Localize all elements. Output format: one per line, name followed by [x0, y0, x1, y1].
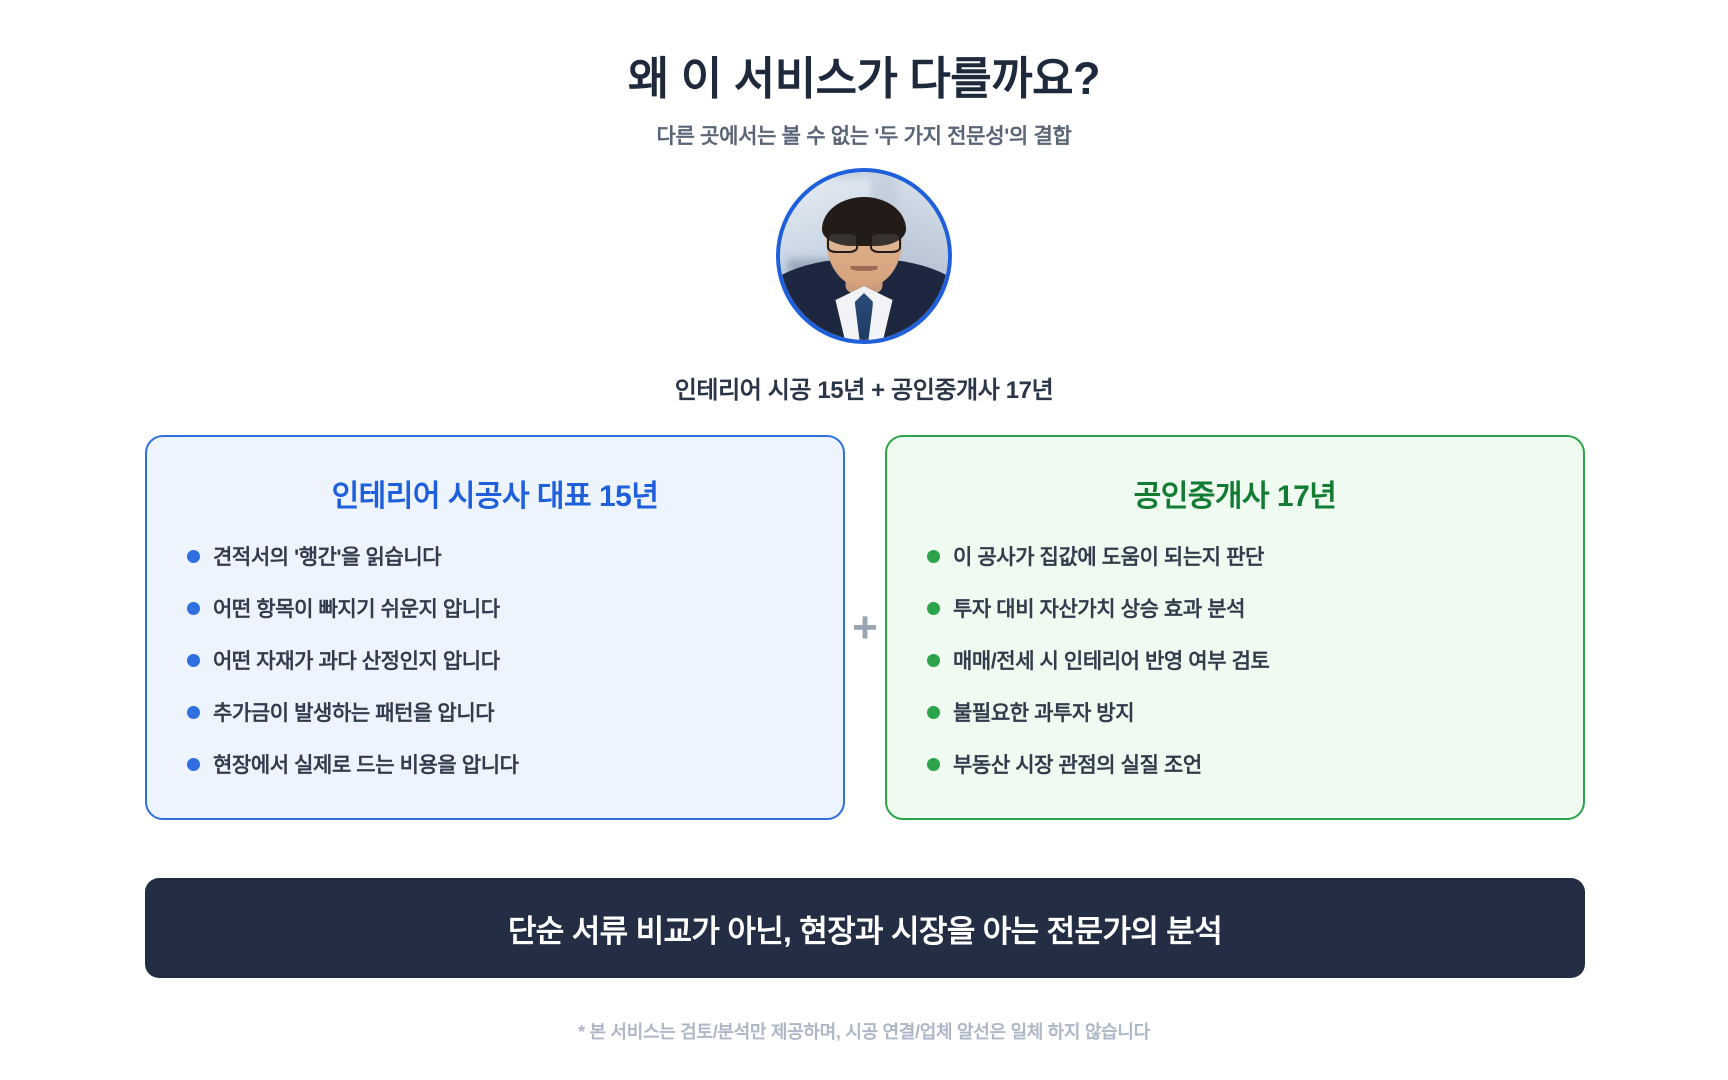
list-item-label: 매매/전세 시 인테리어 반영 여부 검토	[953, 645, 1269, 675]
photo-mouth	[851, 266, 878, 271]
summary-banner-text: 단순 서류 비교가 아닌, 현장과 시장을 아는 전문가의 분석	[508, 906, 1222, 951]
card-interior-title: 인테리어 시공사 대표 15년	[147, 471, 843, 515]
card-realtor-bullet-list: 이 공사가 집값에 도움이 되는지 판단 투자 대비 자산가치 상승 효과 분석…	[887, 541, 1583, 779]
card-realtor: 공인중개사 17년 이 공사가 집값에 도움이 되는지 판단 투자 대비 자산가…	[885, 435, 1585, 820]
card-realtor-title: 공인중개사 17년	[887, 471, 1583, 515]
photo-lens-right	[870, 232, 901, 252]
photo-lens-bridge	[858, 241, 870, 244]
card-interior: 인테리어 시공사 대표 15년 견적서의 '행간'을 읽습니다 어떤 항목이 빠…	[145, 435, 845, 820]
list-item: 매매/전세 시 인테리어 반영 여부 검토	[927, 645, 1583, 675]
plus-separator-icon: +	[845, 435, 885, 820]
list-item-label: 어떤 자재가 과다 산정인지 압니다	[213, 645, 500, 675]
profile-caption: 인테리어 시공 15년 + 공인중개사 17년	[0, 370, 1728, 405]
list-item-label: 부동산 시장 관점의 실질 조언	[953, 749, 1202, 779]
glasses-icon	[827, 232, 901, 252]
list-item-label: 투자 대비 자산가치 상승 효과 분석	[953, 593, 1245, 623]
page-subtitle: 다른 곳에서는 볼 수 없는 '두 가지 전문성'의 결합	[0, 120, 1728, 150]
list-item: 어떤 자재가 과다 산정인지 압니다	[187, 645, 843, 675]
bullet-dot-icon	[187, 550, 200, 563]
list-item: 부동산 시장 관점의 실질 조언	[927, 749, 1583, 779]
list-item: 불필요한 과투자 방지	[927, 697, 1583, 727]
bullet-dot-icon	[927, 602, 940, 615]
summary-banner: 단순 서류 비교가 아닌, 현장과 시장을 아는 전문가의 분석	[145, 878, 1585, 978]
bullet-dot-icon	[927, 550, 940, 563]
bullet-dot-icon	[187, 602, 200, 615]
bullet-dot-icon	[187, 758, 200, 771]
footnote: * 본 서비스는 검토/분석만 제공하며, 시공 연결/업체 알선은 일체 하지…	[0, 1018, 1728, 1044]
list-item-label: 어떤 항목이 빠지기 쉬운지 압니다	[213, 593, 500, 623]
bullet-dot-icon	[927, 654, 940, 667]
list-item-label: 현장에서 실제로 드는 비용을 압니다	[213, 749, 519, 779]
bullet-dot-icon	[927, 706, 940, 719]
profile-photo-icon	[780, 172, 948, 340]
bullet-dot-icon	[927, 758, 940, 771]
page-title: 왜 이 서비스가 다를까요?	[0, 52, 1728, 106]
photo-lens-left	[827, 232, 858, 252]
bullet-dot-icon	[187, 654, 200, 667]
list-item: 투자 대비 자산가치 상승 효과 분석	[927, 593, 1583, 623]
list-item-label: 견적서의 '행간'을 읽습니다	[213, 541, 441, 571]
list-item-label: 이 공사가 집값에 도움이 되는지 판단	[953, 541, 1264, 571]
expertise-cards-row: 인테리어 시공사 대표 15년 견적서의 '행간'을 읽습니다 어떤 항목이 빠…	[145, 435, 1585, 820]
avatar-ring	[776, 168, 952, 344]
card-interior-bullet-list: 견적서의 '행간'을 읽습니다 어떤 항목이 빠지기 쉬운지 압니다 어떤 자재…	[147, 541, 843, 779]
list-item: 이 공사가 집값에 도움이 되는지 판단	[927, 541, 1583, 571]
list-item: 견적서의 '행간'을 읽습니다	[187, 541, 843, 571]
list-item-label: 불필요한 과투자 방지	[953, 697, 1134, 727]
list-item-label: 추가금이 발생하는 패턴을 압니다	[213, 697, 494, 727]
header-section: 왜 이 서비스가 다를까요? 다른 곳에서는 볼 수 없는 '두 가지 전문성'…	[0, 0, 1728, 150]
page-root: 왜 이 서비스가 다를까요? 다른 곳에서는 볼 수 없는 '두 가지 전문성'…	[0, 0, 1728, 1080]
avatar	[776, 168, 952, 344]
bullet-dot-icon	[187, 706, 200, 719]
list-item: 현장에서 실제로 드는 비용을 압니다	[187, 749, 843, 779]
list-item: 어떤 항목이 빠지기 쉬운지 압니다	[187, 593, 843, 623]
list-item: 추가금이 발생하는 패턴을 압니다	[187, 697, 843, 727]
